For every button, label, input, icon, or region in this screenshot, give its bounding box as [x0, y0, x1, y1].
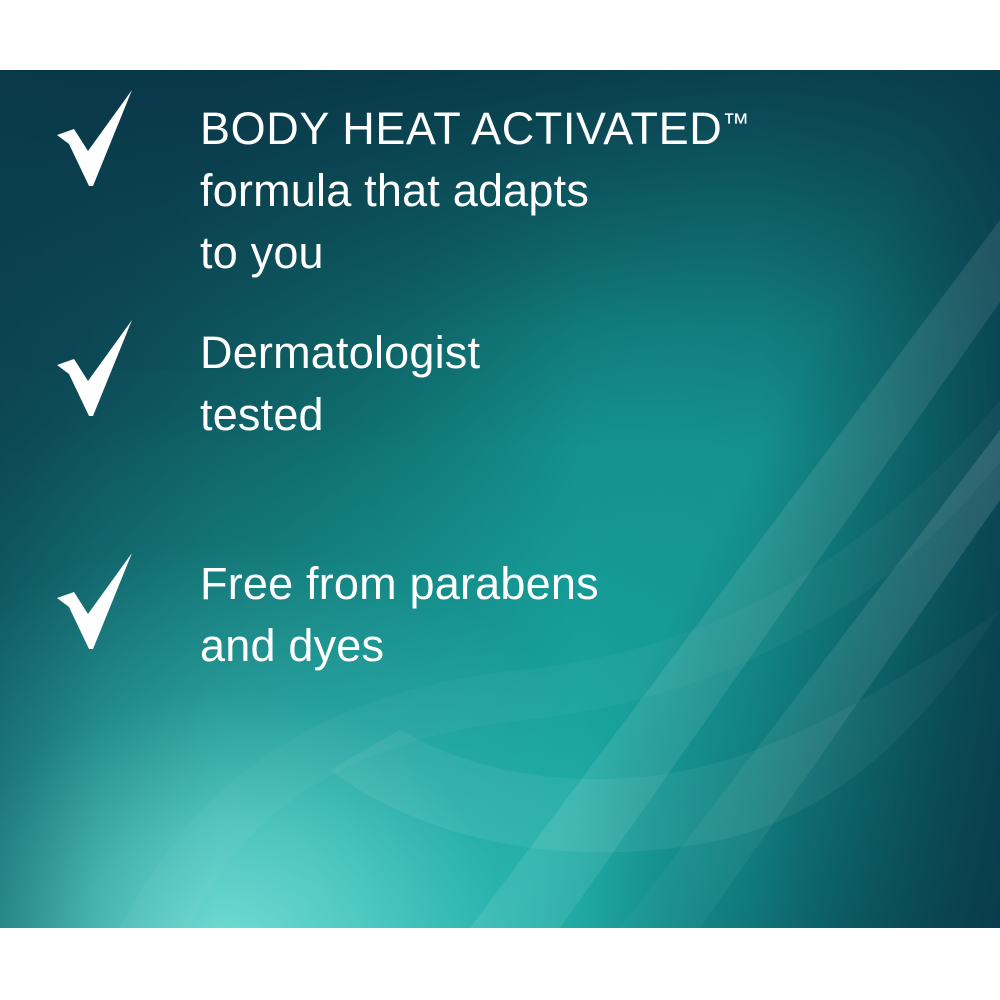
- benefit-text-2: Dermatologist tested: [200, 322, 480, 446]
- benefit-3-line-1: Free from parabens: [200, 553, 599, 615]
- benefit-text-3: Free from parabens and dyes: [200, 553, 599, 677]
- benefit-1-line-3: to you: [200, 222, 749, 284]
- checkmark-icon: [56, 318, 134, 418]
- benefit-text-1: BODY HEAT ACTIVATED™ formula that adapts…: [200, 92, 749, 284]
- benefit-1-line-1: BODY HEAT ACTIVATED™: [200, 92, 749, 160]
- benefit-1-line-2: formula that adapts: [200, 160, 749, 222]
- benefit-2-line-2: tested: [200, 384, 480, 446]
- benefit-3-line-2: and dyes: [200, 615, 599, 677]
- checkmark-icon: [56, 551, 134, 651]
- trademark-symbol: ™: [722, 108, 749, 138]
- checkmark-icon: [56, 88, 134, 188]
- product-benefits-panel: BODY HEAT ACTIVATED™ formula that adapts…: [0, 0, 1000, 1000]
- benefit-2-line-1: Dermatologist: [200, 322, 480, 384]
